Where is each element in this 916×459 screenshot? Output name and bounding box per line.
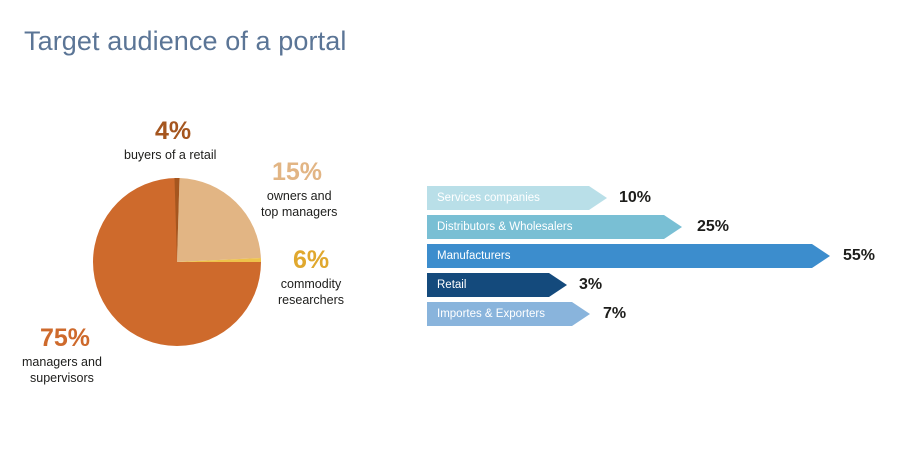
pie-label-name-buyers-of-a-retail-line1: buyers of a retail <box>124 148 216 162</box>
pie-label-percent-commodity-researchers: 6% <box>293 248 329 273</box>
bar-value-importes-and-exporters: 7% <box>603 302 626 326</box>
bar-value-services-companies: 10% <box>619 186 651 210</box>
pie-label-name-commodity-line2: researchers <box>278 293 344 309</box>
bar-value-distributors-and-wholesalers: 25% <box>697 215 729 239</box>
pie-label-name-commodity-line1: commodity <box>278 277 344 293</box>
bar-value-retail: 3% <box>579 273 602 297</box>
pie-label-name-managers-and-supervisors: managers and supervisors <box>22 355 102 386</box>
infographic-canvas: Target audience of a portal 4% buyers of… <box>0 0 916 459</box>
pie-chart-svg <box>93 178 261 346</box>
pie-slice-owners-and-top-managers <box>177 178 261 262</box>
bar-label-services-companies: Services companies <box>437 186 540 210</box>
pie-label-name-managers-line2: supervisors <box>22 371 102 387</box>
bar-label-distributors-and-wholesalers: Distributors & Wholesalers <box>437 215 572 239</box>
pie-label-name-commodity-researchers: commodity researchers <box>278 277 344 308</box>
pie-label-percent-managers-and-supervisors: 75% <box>40 326 90 351</box>
pie-chart <box>93 178 261 346</box>
bar-label-manufacturers: Manufacturers <box>437 244 511 268</box>
pie-label-name-owners-and-top-managers: owners and top managers <box>261 189 337 220</box>
pie-label-name-owners-line2: top managers <box>261 205 337 221</box>
pie-label-name-buyers-of-a-retail: buyers of a retail <box>124 148 216 164</box>
pie-label-percent-buyers-of-a-retail: 4% <box>155 119 191 144</box>
bar-label-retail: Retail <box>437 273 466 297</box>
pie-label-percent-owners-and-top-managers: 15% <box>272 160 322 185</box>
bar-value-manufacturers: 55% <box>843 244 875 268</box>
pie-label-name-managers-line1: managers and <box>22 355 102 371</box>
bar-label-importes-and-exporters: Importes & Exporters <box>437 302 545 326</box>
page-title: Target audience of a portal <box>24 26 346 57</box>
pie-label-name-owners-line1: owners and <box>261 189 337 205</box>
